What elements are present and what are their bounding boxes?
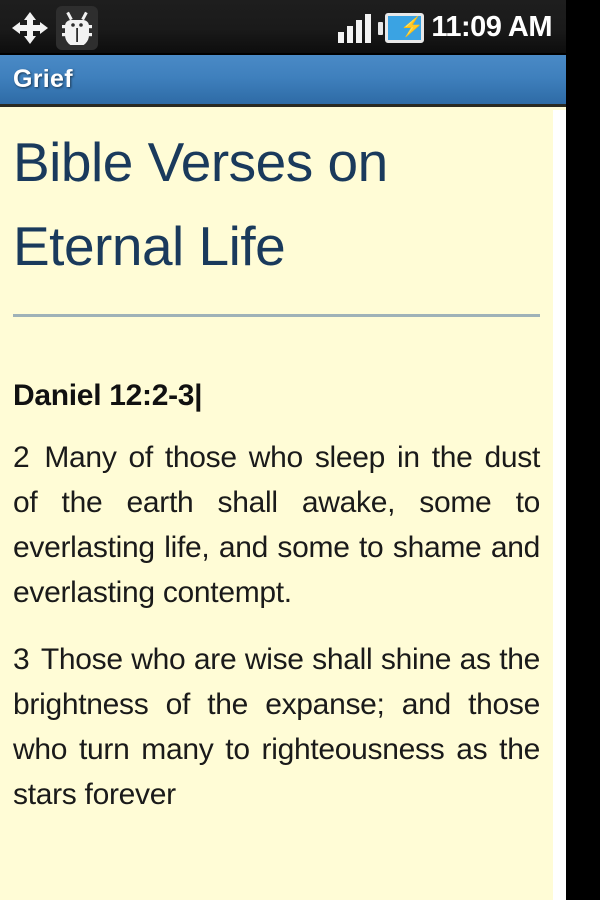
status-bar-right-icons: ⚡ 11:09 AM: [338, 0, 552, 55]
verse-reference: Daniel 12:2-3|: [13, 379, 540, 413]
verse-paragraph: 3 Those who are wise shall shine as the …: [13, 637, 540, 817]
page-title: Bible Verses on Eternal Life: [13, 121, 540, 288]
verse-paragraph: 2 Many of those who sleep in the dust of…: [13, 435, 540, 615]
app-title-bar: Grief: [0, 55, 566, 107]
page-right-edge: [553, 110, 566, 900]
verse-text: Those who are wise shall shine as the br…: [13, 643, 540, 811]
status-bar-clock: 11:09 AM: [431, 11, 552, 44]
app-title-label: Grief: [0, 65, 73, 94]
android-debug-bug-icon: [56, 6, 98, 50]
status-bar: ⚡ 11:09 AM: [0, 0, 566, 55]
verse-number: 3: [13, 643, 38, 676]
verse-text: Many of those who sleep in the dust of t…: [13, 441, 540, 609]
status-bar-left-icons: [10, 0, 98, 55]
article-content[interactable]: Bible Verses on Eternal Life Daniel 12:2…: [0, 107, 566, 852]
heading-divider: [13, 314, 540, 317]
device-bezel: [566, 0, 600, 900]
verse-number: 2: [13, 441, 41, 474]
signal-bars-icon: [338, 13, 371, 43]
usb-move-icon: [10, 10, 50, 46]
battery-charging-icon: ⚡: [378, 13, 424, 43]
device-screen: ⚡ 11:09 AM Grief Bible Verses on Eternal…: [0, 0, 566, 900]
